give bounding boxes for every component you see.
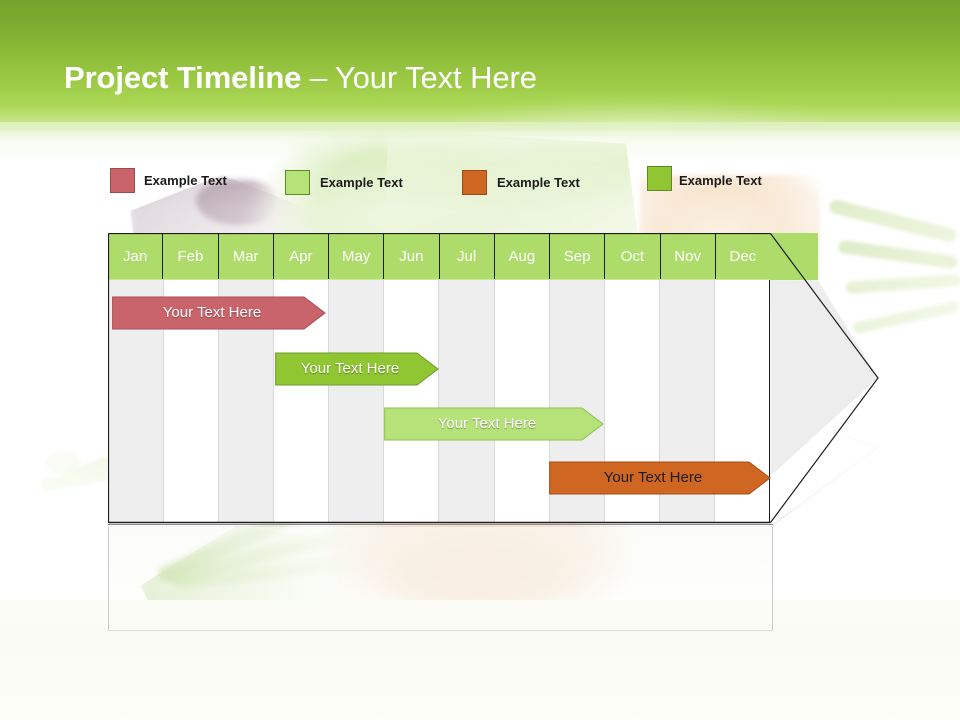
page-title: Project Timeline – Your Text Here — [64, 59, 537, 97]
legend-swatch-orange — [462, 170, 487, 195]
timeline-bar-4-label: Your Text Here — [549, 460, 771, 496]
timeline-header-aug[interactable]: Aug — [495, 233, 550, 280]
legend-label-4: Example Text — [679, 173, 762, 189]
timeline-header-oct[interactable]: Oct — [605, 233, 660, 280]
timeline-bar-1[interactable]: Your Text Here — [112, 295, 326, 331]
timeline-header-may[interactable]: May — [329, 233, 384, 280]
timeline-bar-2[interactable]: Your Text Here — [275, 351, 439, 387]
timeline-header-extension — [770, 233, 818, 280]
legend-label-2: Example Text — [320, 175, 403, 191]
slide-canvas: Project Timeline – Your Text Here Exampl… — [0, 0, 960, 720]
timeline-chart: Jan Feb Mar Apr May Jun Jul Aug Sep Oct … — [108, 233, 880, 525]
timeline-header-apr[interactable]: Apr — [274, 233, 329, 280]
timeline-header-dec[interactable]: Dec — [716, 233, 770, 280]
timeline-header-nov[interactable]: Nov — [661, 233, 716, 280]
legend-label-3: Example Text — [497, 175, 580, 191]
legend-swatch-green — [647, 166, 672, 191]
timeline-header-jan[interactable]: Jan — [108, 233, 163, 280]
legend-label-1: Example Text — [144, 173, 227, 189]
page-title-light: – Your Text Here — [301, 60, 537, 95]
page-title-strong: Project Timeline — [64, 60, 301, 95]
timeline-bar-1-label: Your Text Here — [112, 295, 326, 331]
timeline-header-jul[interactable]: Jul — [440, 233, 495, 280]
timeline-header-mar[interactable]: Mar — [219, 233, 274, 280]
timeline-bar-3-label: Your Text Here — [384, 406, 604, 442]
timeline-bar-3[interactable]: Your Text Here — [384, 406, 604, 442]
timeline-bar-2-label: Your Text Here — [275, 351, 439, 387]
timeline-header-jun[interactable]: Jun — [384, 233, 439, 280]
timeline-header-feb[interactable]: Feb — [163, 233, 218, 280]
reflection-body — [108, 527, 773, 631]
timeline-bar-4[interactable]: Your Text Here — [549, 460, 771, 496]
legend-swatch-light-green — [285, 170, 310, 195]
timeline-header-sep[interactable]: Sep — [550, 233, 605, 280]
header-band-fade — [0, 122, 960, 162]
timeline-header-row: Jan Feb Mar Apr May Jun Jul Aug Sep Oct … — [108, 233, 770, 280]
legend-swatch-rose — [110, 168, 135, 193]
